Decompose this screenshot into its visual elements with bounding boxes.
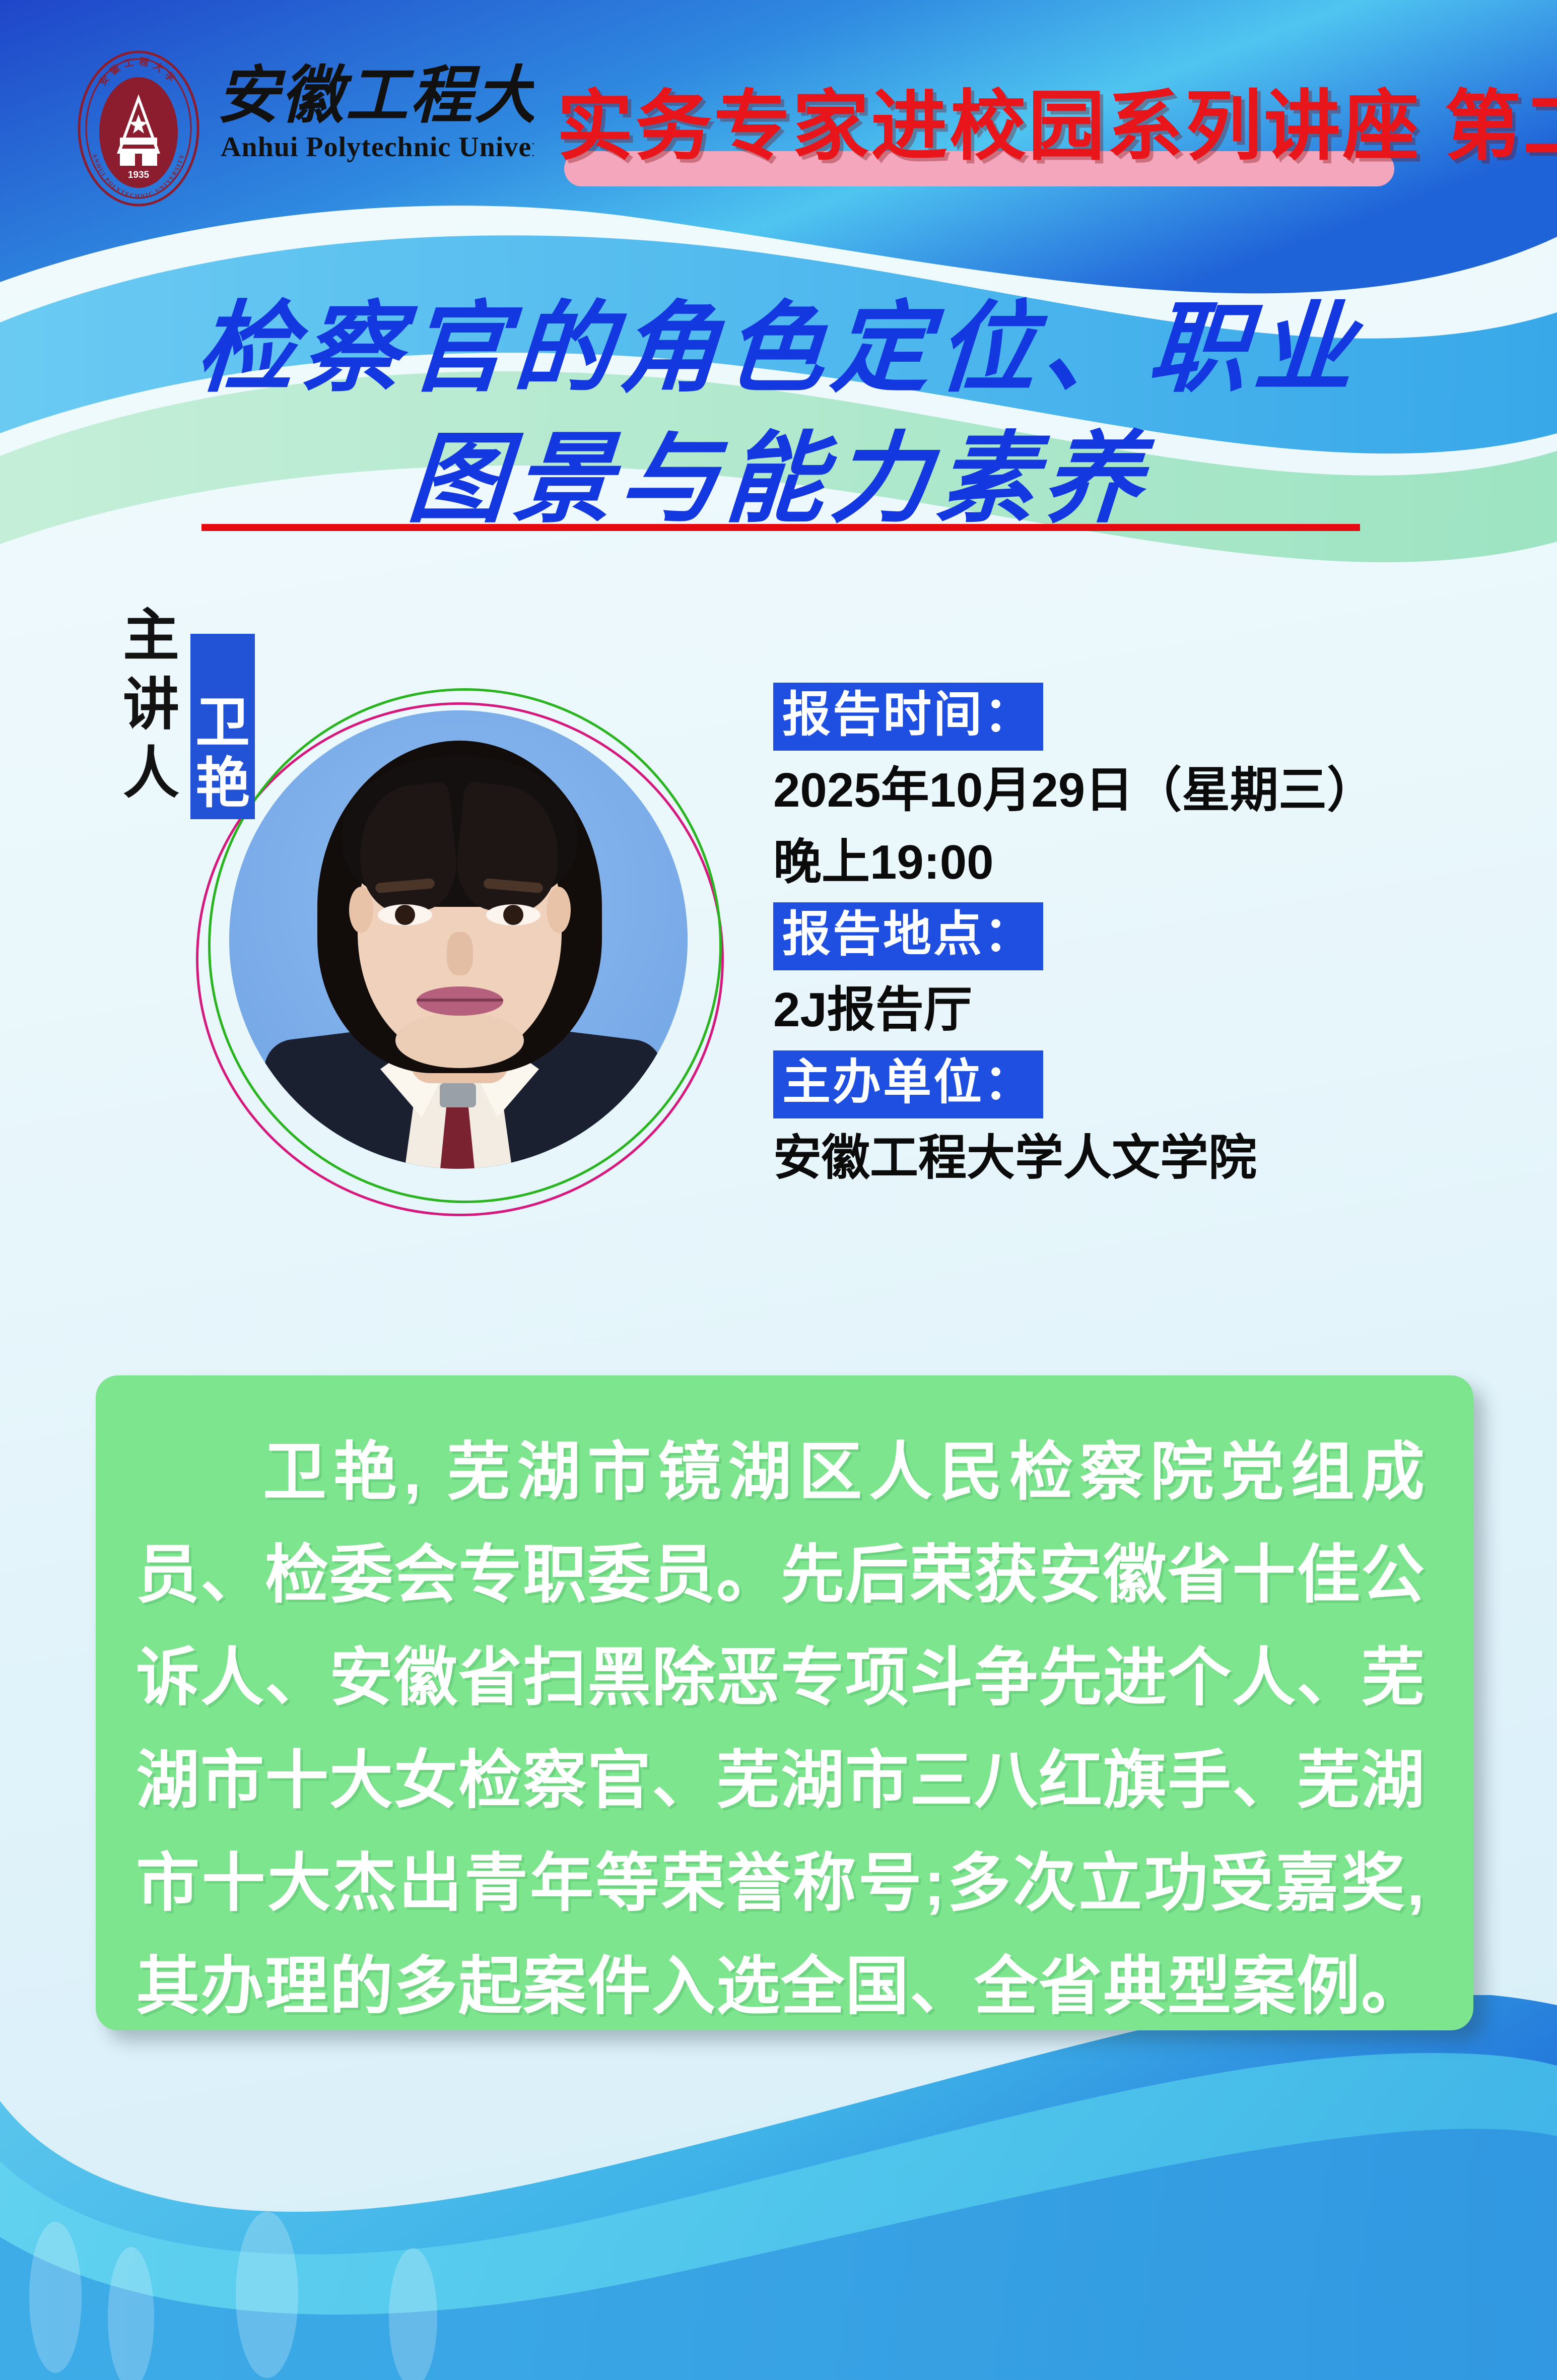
university-seal-logo: 1935 安徽工程大学 ANHUI POLYTECHNIC UNIVERSITY bbox=[76, 48, 201, 209]
event-time-group: 报告时间： 2025年10月29日（星期三） 晚上19:00 bbox=[773, 683, 1509, 894]
lecture-title: 检察官的角色定位、职业 图景与能力素养 bbox=[0, 285, 1557, 545]
lecture-title-line-1: 检察官的角色定位、职业 bbox=[0, 285, 1557, 415]
event-host-group: 主办单位： 安徽工程大学人文学院 bbox=[773, 1050, 1509, 1191]
speaker-bio-box: 卫艳, 芜湖市镜湖区人民检察院党组成员、检委会专职委员。先后荣获安徽省十佳公诉人… bbox=[96, 1375, 1473, 2030]
event-host-value: 安徽工程大学人文学院 bbox=[773, 1127, 1509, 1191]
speaker-portrait bbox=[194, 679, 728, 1218]
speaker-label-char-2: 人 bbox=[118, 740, 184, 809]
portrait-photo bbox=[229, 710, 688, 1169]
event-place-group: 报告地点： 2J报告厅 bbox=[773, 902, 1509, 1042]
speaker-label: 主讲人 bbox=[118, 602, 184, 809]
event-time-date: 2025年10月29日（星期三） bbox=[773, 759, 1509, 823]
event-host-label: 主办单位： bbox=[773, 1050, 1043, 1118]
event-place-value: 2J报告厅 bbox=[773, 978, 1509, 1042]
svg-text:1935: 1935 bbox=[128, 170, 150, 180]
university-name-en: Anhui Polytechnic University bbox=[221, 131, 534, 163]
bottom-wave-decoration bbox=[0, 1995, 1557, 2380]
speaker-bio-text: 卫艳, 芜湖市镜湖区人民检察院党组成员、检委会专职委员。先后荣获安徽省十佳公诉人… bbox=[136, 1421, 1426, 2038]
event-time-clock: 晚上19:00 bbox=[773, 831, 1509, 895]
university-name-cn: 安徽工程大学 bbox=[217, 61, 534, 130]
series-banner-text: 实务专家进校园系列讲座 第二讲 bbox=[557, 88, 1557, 165]
speaker-name-char-1: 艳 bbox=[195, 754, 250, 815]
event-time-label: 报告时间： bbox=[773, 683, 1043, 751]
poster-root: 1935 安徽工程大学 ANHUI POLYTECHNIC UNIVERSITY… bbox=[0, 0, 1557, 2380]
speaker-label-char-1: 讲 bbox=[118, 671, 184, 740]
speaker-label-char-0: 主 bbox=[118, 602, 184, 671]
event-info-panel: 报告时间： 2025年10月29日（星期三） 晚上19:00 报告地点： 2J报… bbox=[773, 683, 1509, 1199]
university-wordmark: 安徽工程大学 Anhui Polytechnic University bbox=[212, 50, 534, 166]
event-place-label: 报告地点： bbox=[773, 902, 1043, 970]
speaker-name-char-0: 卫 bbox=[195, 693, 250, 754]
speaker-name-banner: 卫艳 bbox=[190, 634, 255, 819]
title-divider-rule bbox=[201, 524, 1360, 531]
